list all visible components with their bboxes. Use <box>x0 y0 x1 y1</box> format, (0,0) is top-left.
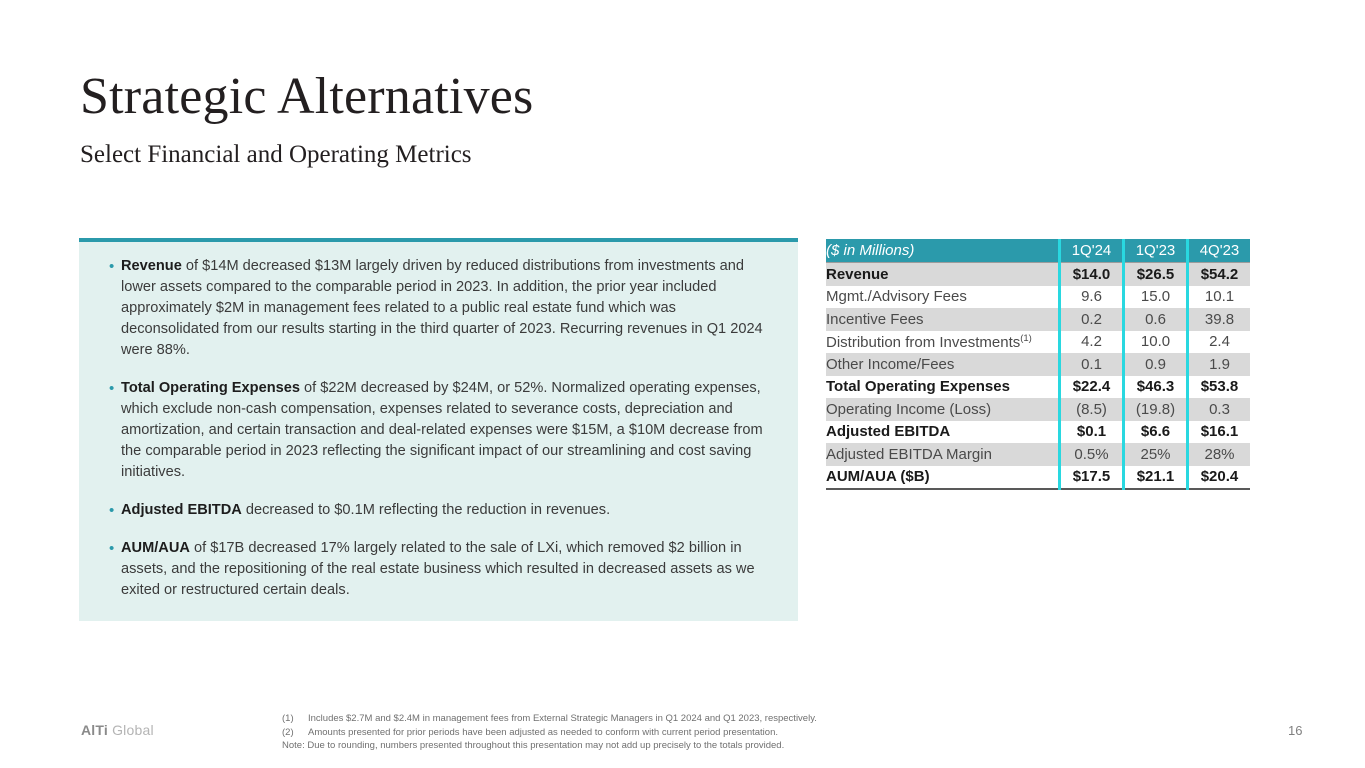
row-value: $26.5 <box>1124 263 1188 286</box>
row-value: $16.1 <box>1188 421 1251 444</box>
footnotes-block: (1)Includes $2.7M and $2.4M in managemen… <box>282 712 1182 753</box>
table-row: Operating Income (Loss)(8.5)(19.8)0.3 <box>826 398 1250 421</box>
row-label: Revenue <box>826 263 1060 286</box>
row-value: 39.8 <box>1188 308 1251 331</box>
row-label: AUM/AUA ($B) <box>826 466 1060 490</box>
row-value: $46.3 <box>1124 376 1188 399</box>
table-row: AUM/AUA ($B)$17.5$21.1$20.4 <box>826 466 1250 490</box>
row-value: $21.1 <box>1124 466 1188 490</box>
table-row: Revenue$14.0$26.5$54.2 <box>826 263 1250 286</box>
footnote-text: Includes $2.7M and $2.4M in management f… <box>308 712 817 726</box>
table-row: Adjusted EBITDA$0.1$6.6$16.1 <box>826 421 1250 444</box>
financial-metrics-table: ($ in Millions) 1Q'24 1Q'23 4Q'23 Revenu… <box>826 239 1250 490</box>
table-unit-label: ($ in Millions) <box>826 239 1060 263</box>
row-label: Incentive Fees <box>826 308 1060 331</box>
row-value: $53.8 <box>1188 376 1251 399</box>
bullet-body: decreased to $0.1M reflecting the reduct… <box>242 502 610 518</box>
bullet-item: •AUM/AUA of $17B decreased 17% largely r… <box>99 538 778 601</box>
bullet-lead: Total Operating Expenses <box>121 380 300 396</box>
page-title: Strategic Alternatives <box>80 68 980 126</box>
bullet-item: •Adjusted EBITDA decreased to $0.1M refl… <box>99 500 778 521</box>
row-label-text: Adjusted EBITDA <box>826 423 950 440</box>
logo-secondary-text: Global <box>112 722 154 738</box>
row-value: 0.6 <box>1124 308 1188 331</box>
row-value: $20.4 <box>1188 466 1251 490</box>
logo-primary-text: AlTi <box>81 722 108 738</box>
bullet-text: Total Operating Expenses of $22M decreas… <box>121 378 778 483</box>
footnote-text: Amounts presented for prior periods have… <box>308 726 778 740</box>
row-value: $0.1 <box>1060 421 1124 444</box>
row-value: 25% <box>1124 443 1188 466</box>
bullet-dot-icon: • <box>99 256 121 361</box>
table-row: Other Income/Fees0.10.91.9 <box>826 353 1250 376</box>
row-value: 2.4 <box>1188 331 1251 354</box>
row-value: $54.2 <box>1188 263 1251 286</box>
row-label-text: Operating Income (Loss) <box>826 401 991 418</box>
row-label-text: Other Income/Fees <box>826 356 954 373</box>
row-label-text: Total Operating Expenses <box>826 378 1010 395</box>
footnote-row: Note: Due to rounding, numbers presented… <box>282 739 1182 753</box>
bullet-dot-icon: • <box>99 500 121 521</box>
bullet-text: AUM/AUA of $17B decreased 17% largely re… <box>121 538 778 601</box>
table-header-row: ($ in Millions) 1Q'24 1Q'23 4Q'23 <box>826 239 1250 263</box>
row-value: $22.4 <box>1060 376 1124 399</box>
row-value: 4.2 <box>1060 331 1124 354</box>
row-value: 0.2 <box>1060 308 1124 331</box>
row-label: Total Operating Expenses <box>826 376 1060 399</box>
row-label-text: Adjusted EBITDA Margin <box>826 446 992 463</box>
row-value: 15.0 <box>1124 286 1188 309</box>
row-value: $14.0 <box>1060 263 1124 286</box>
row-value: 9.6 <box>1060 286 1124 309</box>
row-value: 10.1 <box>1188 286 1251 309</box>
company-logo: AlTi Global <box>81 722 154 738</box>
row-label-text: Distribution from Investments <box>826 334 1020 351</box>
column-header-2: 4Q'23 <box>1188 239 1251 263</box>
row-value: (19.8) <box>1124 398 1188 421</box>
table-row: Total Operating Expenses$22.4$46.3$53.8 <box>826 376 1250 399</box>
bullet-text: Adjusted EBITDA decreased to $0.1M refle… <box>121 500 778 521</box>
row-value: 0.5% <box>1060 443 1124 466</box>
column-header-0: 1Q'24 <box>1060 239 1124 263</box>
footnote-number: (1) <box>282 712 308 726</box>
bullet-text: Revenue of $14M decreased $13M largely d… <box>121 256 778 361</box>
table-body: Revenue$14.0$26.5$54.2Mgmt./Advisory Fee… <box>826 263 1250 490</box>
bullet-lead: Adjusted EBITDA <box>121 502 242 518</box>
footnote-number: (2) <box>282 726 308 740</box>
bullet-body: of $14M decreased $13M largely driven by… <box>121 258 763 358</box>
row-value: (8.5) <box>1060 398 1124 421</box>
bullet-dot-icon: • <box>99 378 121 483</box>
row-label-text: AUM/AUA ($B) <box>826 468 930 485</box>
commentary-panel: •Revenue of $14M decreased $13M largely … <box>79 238 798 621</box>
row-label-text: Mgmt./Advisory Fees <box>826 288 967 305</box>
table-row: Adjusted EBITDA Margin0.5%25%28% <box>826 443 1250 466</box>
footnote-row: (2)Amounts presented for prior periods h… <box>282 726 1182 740</box>
table-row: Incentive Fees0.20.639.8 <box>826 308 1250 331</box>
row-label-text: Revenue <box>826 266 889 283</box>
row-value: 10.0 <box>1124 331 1188 354</box>
table-row: Distribution from Investments(1)4.210.02… <box>826 331 1250 354</box>
page-number: 16 <box>1288 723 1302 738</box>
row-value: $6.6 <box>1124 421 1188 444</box>
row-value: 28% <box>1188 443 1251 466</box>
column-header-1: 1Q'23 <box>1124 239 1188 263</box>
bullet-dot-icon: • <box>99 538 121 601</box>
bullet-lead: Revenue <box>121 258 182 274</box>
row-label: Distribution from Investments(1) <box>826 331 1060 354</box>
bullet-body: of $17B decreased 17% largely related to… <box>121 540 755 598</box>
title-block: Strategic Alternatives Select Financial … <box>80 68 980 170</box>
footnote-text: Note: Due to rounding, numbers presented… <box>282 739 784 753</box>
row-value: 1.9 <box>1188 353 1251 376</box>
row-label: Adjusted EBITDA Margin <box>826 443 1060 466</box>
row-label: Operating Income (Loss) <box>826 398 1060 421</box>
footnote-marker: (1) <box>1020 333 1032 344</box>
row-value: 0.1 <box>1060 353 1124 376</box>
page-subtitle: Select Financial and Operating Metrics <box>80 140 980 170</box>
table-row: Mgmt./Advisory Fees9.615.010.1 <box>826 286 1250 309</box>
row-label: Mgmt./Advisory Fees <box>826 286 1060 309</box>
bullet-item: •Total Operating Expenses of $22M decrea… <box>99 378 778 483</box>
bullet-lead: AUM/AUA <box>121 540 190 556</box>
row-label: Other Income/Fees <box>826 353 1060 376</box>
footnote-row: (1)Includes $2.7M and $2.4M in managemen… <box>282 712 1182 726</box>
row-value: $17.5 <box>1060 466 1124 490</box>
row-value: 0.3 <box>1188 398 1251 421</box>
row-label-text: Incentive Fees <box>826 311 924 328</box>
bullet-item: •Revenue of $14M decreased $13M largely … <box>99 256 778 361</box>
row-label: Adjusted EBITDA <box>826 421 1060 444</box>
row-value: 0.9 <box>1124 353 1188 376</box>
